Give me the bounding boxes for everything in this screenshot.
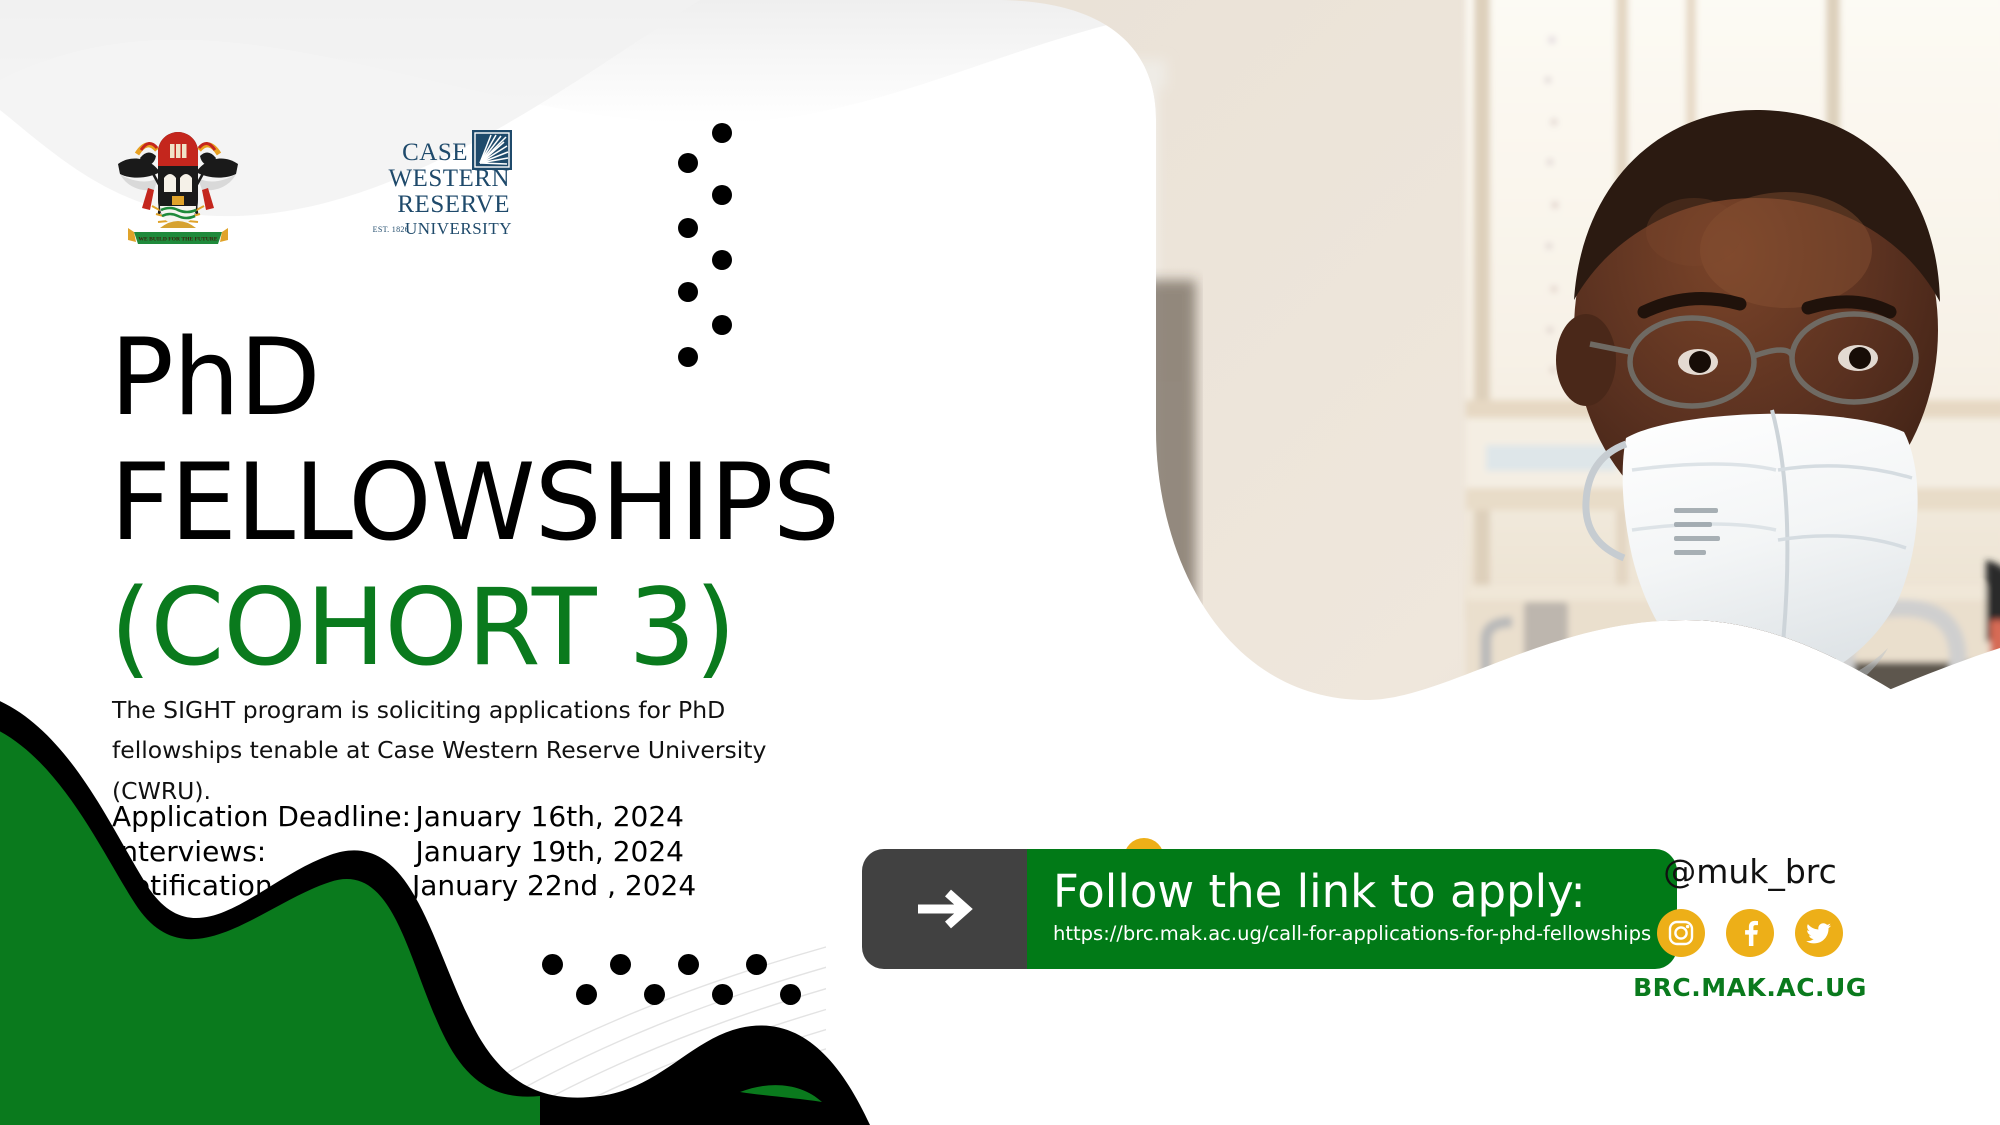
cwru-line-case: CASE <box>402 139 468 166</box>
website-url[interactable]: BRC.MAK.AC.UG <box>1600 973 1900 1002</box>
decor-dot <box>644 984 665 1005</box>
makerere-university-coat-of-arms: WE BUILD FOR THE FUTURE <box>110 128 246 248</box>
decor-dot <box>678 282 698 302</box>
makerere-motto-text: WE BUILD FOR THE FUTURE <box>138 237 217 243</box>
apply-link-button[interactable]: Follow the link to apply: https://brc.ma… <box>862 849 1677 969</box>
date-label: Notification date: <box>112 869 412 904</box>
arrow-right-icon <box>862 849 1027 969</box>
social-block: @muk_brc BRC.MAK.AC.UG <box>1600 852 1900 1002</box>
decor-dot <box>678 153 698 173</box>
social-icon-row <box>1600 909 1900 957</box>
decor-dot <box>746 954 767 975</box>
decor-dot <box>712 250 732 270</box>
decor-dot <box>712 185 732 205</box>
headline-line-3-cohort: (COHORT 3) <box>110 565 810 690</box>
logo-row: WE BUILD FOR THE FUTURE CASE WESTERN RES… <box>110 128 514 248</box>
cwru-est-text: EST. 1826 <box>373 225 409 234</box>
date-value: January 19th, 2024 <box>412 835 732 870</box>
cwru-line-western: WESTERN <box>388 165 510 192</box>
decor-dot <box>678 218 698 238</box>
date-row: Notification date: January 22nd , 2024 <box>112 869 732 904</box>
date-row: Interviews: January 19th, 2024 <box>112 835 732 870</box>
decor-dot <box>678 347 698 367</box>
decor-dot <box>712 123 732 143</box>
date-label: Interviews: <box>112 835 412 870</box>
social-handle: @muk_brc <box>1600 852 1900 891</box>
key-dates-list: Application Deadline: January 16th, 2024… <box>112 800 732 904</box>
poster-canvas: WE BUILD FOR THE FUTURE CASE WESTERN RES… <box>0 0 2000 1125</box>
decor-dot <box>610 954 631 975</box>
decor-dot <box>780 984 801 1005</box>
date-value: January 22nd , 2024 <box>412 869 744 904</box>
decor-dot <box>576 984 597 1005</box>
cwru-line-reserve: RESERVE <box>397 191 510 218</box>
case-western-reserve-university-logo: CASE WESTERN RESERVE EST. 1826 UNIVERSIT… <box>364 128 514 240</box>
date-value: January 16th, 2024 <box>412 800 732 835</box>
date-label: Application Deadline: <box>112 800 412 835</box>
program-description: The SIGHT program is soliciting applicat… <box>112 690 772 811</box>
apply-cta-title: Follow the link to apply: <box>1053 868 1651 916</box>
twitter-icon[interactable] <box>1795 909 1843 957</box>
dots-vertical-zigzag <box>660 100 790 400</box>
decor-dot <box>542 954 563 975</box>
decor-dot <box>712 984 733 1005</box>
headline-line-2: FELLOWSHIPS <box>110 440 810 565</box>
cwru-line-university: UNIVERSITY <box>405 219 512 238</box>
decor-dot <box>712 315 732 335</box>
facebook-icon[interactable] <box>1726 909 1774 957</box>
dots-horizontal-zigzag <box>520 920 820 1020</box>
apply-link-body[interactable]: Follow the link to apply: https://brc.ma… <box>1027 849 1677 969</box>
date-row: Application Deadline: January 16th, 2024 <box>112 800 732 835</box>
apply-cta-url[interactable]: https://brc.mak.ac.ug/call-for-applicati… <box>1053 921 1651 946</box>
decor-dot <box>678 954 699 975</box>
instagram-icon[interactable] <box>1657 909 1705 957</box>
